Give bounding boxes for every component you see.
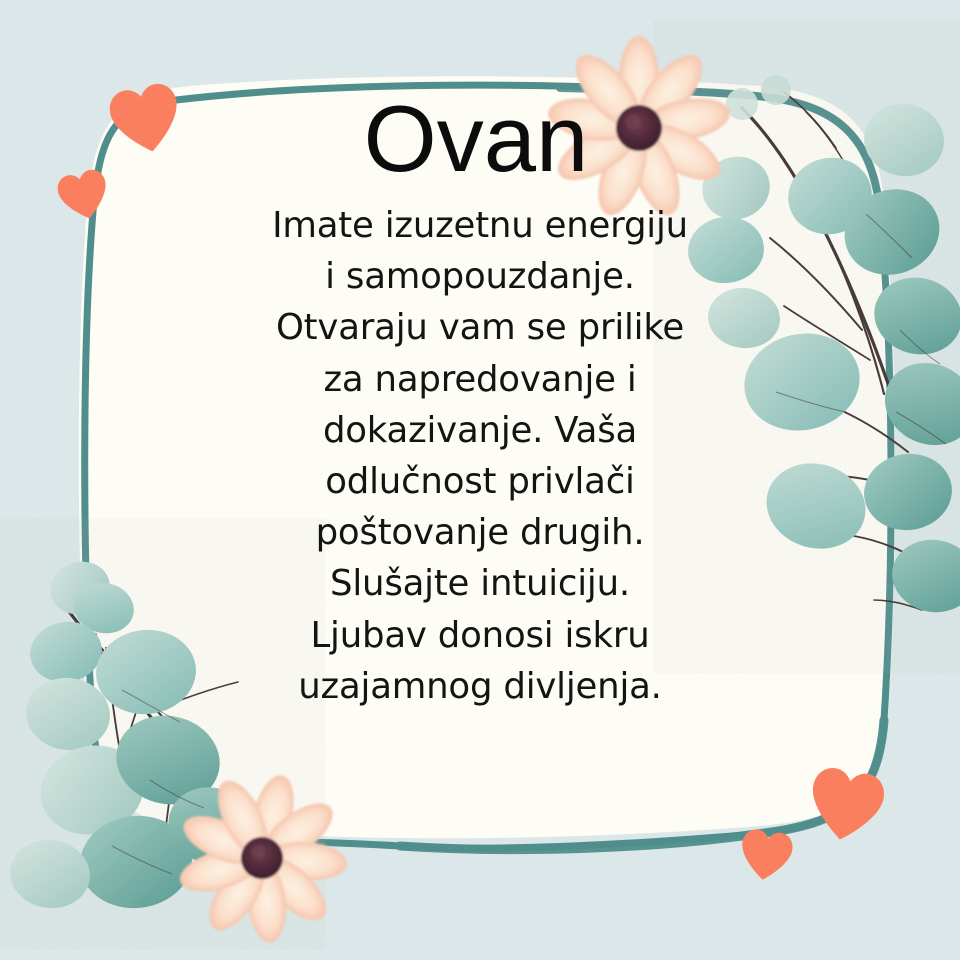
flower-center [616, 105, 662, 151]
poster-artwork [0, 0, 960, 960]
eucalyptus-bud [761, 75, 791, 105]
inner-card-shape [79, 76, 895, 838]
flower-center-highlight [625, 114, 641, 130]
eucalyptus-bud [726, 88, 758, 120]
poster-canvas: Ovan Imate izuzetnu energiju i samopouzd… [0, 0, 960, 960]
